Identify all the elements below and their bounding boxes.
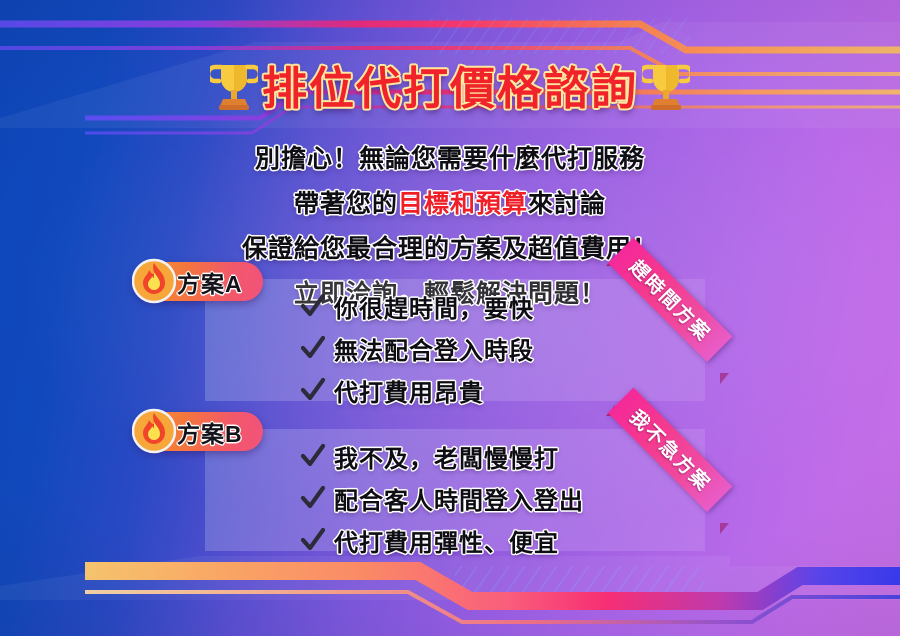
list-item-label: 配合客人時間登入登出 [334, 481, 584, 516]
trophy-icon [642, 59, 690, 111]
subtitle-text: 別擔心！無論您需要什麼代打服務 [255, 145, 645, 173]
check-icon [300, 527, 326, 553]
plan-badge-b[interactable]: 方案B [133, 412, 263, 451]
check-icon [300, 443, 326, 469]
plan-ribbon-a: 趕時間方案 [600, 257, 725, 382]
list-item: 無法配合登入時段 [300, 331, 534, 365]
list-item-label: 代打費用彈性、便宜 [334, 523, 559, 558]
flame-icon [132, 406, 176, 456]
list-item: 代打費用昂貴 [300, 373, 534, 407]
check-icon [300, 293, 326, 319]
subtitle-line: 別擔心！無論您需要什麼代打服務 [255, 139, 645, 175]
plan-item-list-a: 你很趕時間，要快 無法配合登入時段 代打費用昂貴 [300, 289, 534, 407]
trophy-icon [210, 59, 258, 111]
promo-poster: 排位代打價格諮詢 別擔心！無論您需要什麼代打服務帶著您的目標和預算來討論保證給您… [0, 0, 900, 636]
list-item-label: 無法配合登入時段 [334, 331, 534, 366]
list-item-label: 我不及，老闆慢慢打 [334, 439, 559, 474]
subtitle-text: 來討論 [528, 190, 606, 218]
subtitle-line: 保證給您最合理的方案及超值費用！ [242, 229, 658, 265]
title-row: 排位代打價格諮詢 [0, 52, 900, 117]
subtitle-text: 帶著您的 [294, 190, 398, 218]
subtitle-line: 帶著您的目標和預算來討論 [294, 184, 606, 220]
page-title: 排位代打價格諮詢 [262, 52, 638, 117]
ribbon-label: 我不急方案 [624, 403, 717, 496]
flame-icon [132, 256, 176, 306]
check-icon [300, 485, 326, 511]
plan-badge-a[interactable]: 方案A [133, 262, 263, 301]
ribbon-tail [720, 523, 729, 534]
list-item: 配合客人時間登入登出 [300, 481, 584, 515]
ribbon-label: 趕時間方案 [624, 253, 717, 346]
ribbon-tail [720, 373, 729, 384]
list-item-label: 代打費用昂貴 [334, 373, 484, 408]
list-item: 我不及，老闆慢慢打 [300, 439, 584, 473]
list-item: 你很趕時間，要快 [300, 289, 534, 323]
subtitle-text: 保證給您最合理的方案及超值費用！ [242, 235, 658, 263]
plan-item-list-b: 我不及，老闆慢慢打 配合客人時間登入登出 代打費用彈性、便宜 [300, 439, 584, 557]
check-icon [300, 335, 326, 361]
subtitle-highlight: 目標和預算 [398, 190, 528, 218]
ribbon-banner: 我不急方案 [608, 388, 732, 512]
plan-badge-label: 方案B [177, 415, 243, 449]
plan-ribbon-b: 我不急方案 [600, 407, 725, 532]
check-icon [300, 377, 326, 403]
list-item: 代打費用彈性、便宜 [300, 523, 584, 557]
list-item-label: 你很趕時間，要快 [334, 289, 534, 324]
plan-badge-label: 方案A [177, 265, 243, 299]
ribbon-banner: 趕時間方案 [608, 238, 732, 362]
